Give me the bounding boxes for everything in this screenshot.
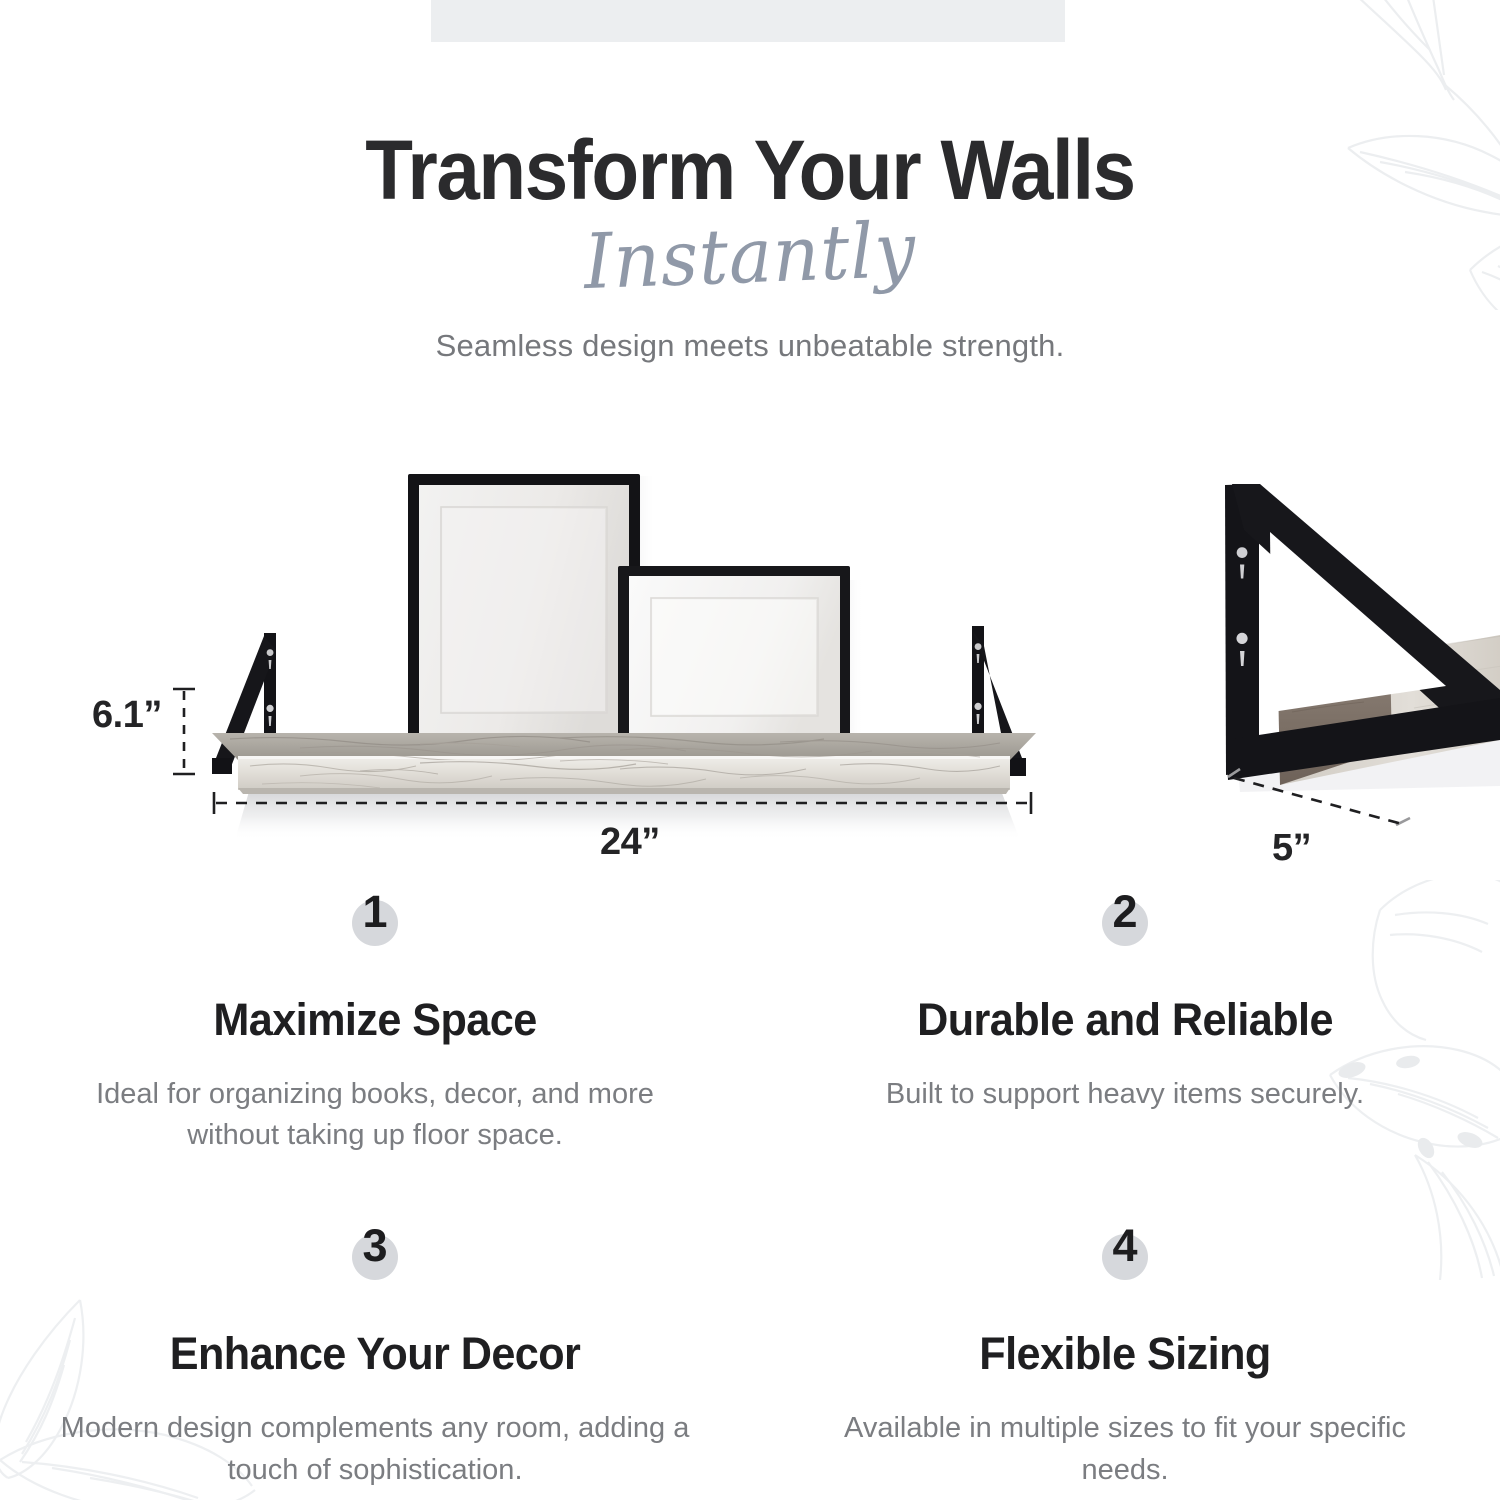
bracket-detail-view [1225,484,1500,792]
product-photo-stage [0,440,1500,880]
feature-badge-3: 3 [60,1214,690,1286]
width-dimension-label: 24” [600,821,660,864]
feature-badge-4: 4 [810,1214,1440,1286]
feature-title: Enhance Your Decor [73,1328,678,1380]
top-banner-band [431,0,1065,42]
feature-number: 3 [362,1223,387,1286]
feature-title: Flexible Sizing [823,1328,1428,1380]
feature-description: Ideal for organizing books, decor, and m… [60,1074,690,1156]
height-dimension-line [173,689,195,774]
feature-description: Built to support heavy items securely. [810,1074,1440,1115]
feature-badge-2: 2 [810,880,1440,952]
feature-description: Available in multiple sizes to fit your … [810,1408,1440,1490]
shelf-board [212,733,1036,794]
feature-title: Durable and Reliable [823,994,1428,1046]
feature-item-1: 1 Maximize Space Ideal for organizing bo… [0,880,750,1156]
features-grid: 1 Maximize Space Ideal for organizing bo… [0,880,1500,1491]
feature-title: Maximize Space [73,994,678,1046]
feature-item-4: 4 Flexible Sizing Available in multiple … [750,1214,1500,1490]
feature-description: Modern design complements any room, addi… [60,1408,690,1490]
feature-item-2: 2 Durable and Reliable Built to support … [750,880,1500,1156]
feature-badge-1: 1 [60,880,690,952]
header-block: Transform Your Walls Instantly Seamless … [0,128,1500,364]
depth-dimension-label: 5” [1272,827,1311,870]
feature-number: 4 [1112,1223,1137,1286]
infographic-page: 6.1” 24” 5” Transform Your Walls Instant… [0,0,1500,1500]
height-dimension-label: 6.1” [92,694,162,737]
small-picture-frame [618,566,850,746]
feature-number: 2 [1112,889,1137,952]
feature-number: 1 [362,889,387,952]
feature-item-3: 3 Enhance Your Decor Modern design compl… [0,1214,750,1490]
page-subtitle: Seamless design meets unbeatable strengt… [0,328,1500,364]
large-picture-frame [408,474,640,746]
